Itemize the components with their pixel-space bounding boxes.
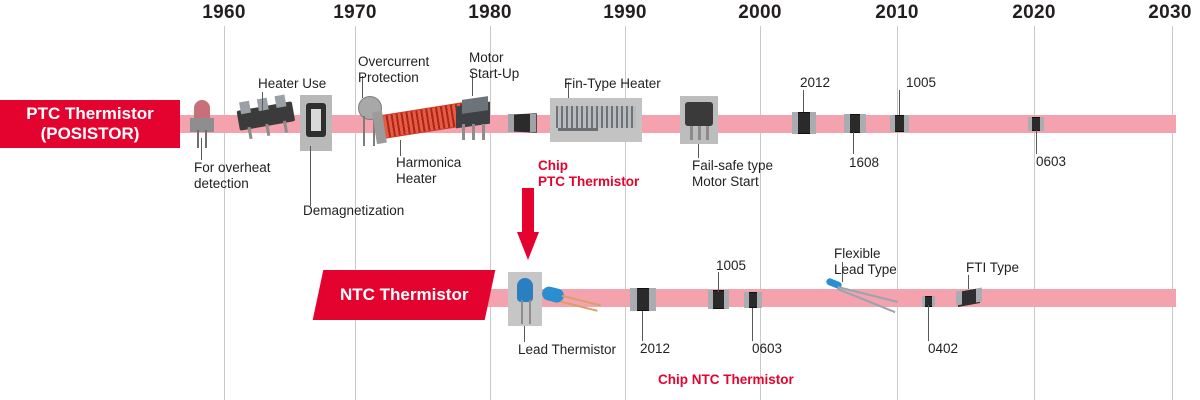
leader-ntc-0603 — [752, 308, 753, 341]
decade-label-2010: 2010 — [857, 2, 937, 24]
ptc-heater-module-icon — [235, 91, 297, 142]
gridline-1960 — [224, 26, 225, 400]
decade-label-2000: 2000 — [720, 2, 800, 24]
ntc-item-label-chip-size-0603: 0603 — [752, 341, 802, 357]
ptc-item-label-demagnetization: Demagnetization — [303, 203, 443, 219]
chip-component-icon-ntc-1005 — [708, 290, 729, 309]
flexible-lead-ntc-icon — [826, 278, 900, 320]
ptc-item-label-chip-size-0603: 0603 — [1036, 154, 1086, 170]
chip-component-icon-ntc-0603 — [744, 292, 762, 308]
ptc-item-label-chip-size-1608: 1608 — [849, 155, 899, 171]
leader-fti-type — [968, 275, 969, 289]
ntc-caption-chip-ntc-thermistor: Chip NTC Thermistor — [658, 372, 878, 388]
ptc-item-label-chip-size-1005: 1005 — [906, 75, 956, 91]
chip-component-icon-ptc-1608 — [844, 114, 866, 133]
leader-demag — [310, 146, 311, 206]
ptc-item-label-chip-size-2012: 2012 — [800, 75, 850, 91]
degaussing-posistor-icon — [300, 95, 332, 151]
ptc-item-label-overcurrent-protection: Overcurrent Protection — [358, 54, 458, 86]
ntc-item-label-chip-size-1005: 1005 — [716, 258, 766, 274]
ptc-category-label: PTC Thermistor (POSISTOR) — [0, 100, 180, 148]
chip-component-icon-ntc-2012 — [630, 288, 656, 311]
ntc-item-label-flexible-lead-type: Flexible Lead Type — [834, 246, 934, 278]
chip-component-icon-ptc-1005 — [890, 115, 909, 132]
ntc-item-label-fti-type: FTI Type — [966, 260, 1046, 276]
chip-component-icon-ptc-0603 — [1028, 117, 1044, 131]
leader-2012 — [803, 90, 804, 112]
leader-0603 — [1036, 130, 1037, 154]
gridline-2030 — [1172, 26, 1173, 400]
gridline-2020 — [1034, 26, 1035, 400]
fail-safe-motor-start-photo-icon — [680, 96, 718, 144]
leader-ntc-1005 — [718, 272, 719, 292]
ptc-disc-radial-leads-icon — [188, 100, 216, 148]
ntc-category-label-text: NTC Thermistor — [340, 285, 468, 305]
ptc-item-label-chip-ptc-thermistor: Chip PTC Thermistor — [538, 158, 668, 190]
leader-failsafe — [698, 144, 699, 158]
timeline-diagram: 1960 1970 1980 1990 2000 2010 2020 2030 … — [0, 0, 1200, 400]
chip-ptc-icon — [508, 112, 536, 136]
leader-heateruse — [262, 92, 263, 110]
fti-type-ntc-icon — [956, 286, 984, 312]
ntc-category-label: NTC Thermistor — [313, 270, 496, 320]
ptc-item-label-for-overheat-detection: For overheat detection — [194, 160, 289, 192]
ptc-item-label-heater-use: Heater Use — [258, 76, 368, 92]
gridline-2010 — [897, 26, 898, 400]
leader-harmonica — [400, 140, 401, 156]
decade-label-1970: 1970 — [315, 2, 395, 24]
ptc-item-label-harmonica-heater: Harmonica Heater — [396, 155, 486, 187]
ptc-item-label-fin-type-heater: Fin-Type Heater — [564, 76, 704, 92]
leader-ntc-0402 — [928, 305, 929, 341]
ntc-item-label-lead-thermistor: Lead Thermistor — [518, 342, 638, 358]
motor-start-posistor-icon — [452, 96, 498, 144]
decade-label-2030: 2030 — [1130, 2, 1200, 24]
decade-label-1980: 1980 — [450, 2, 530, 24]
ptc-item-label-motor-start-up: Motor Start-Up — [469, 50, 539, 82]
leader-lead-thermistor — [524, 326, 525, 342]
ntc-item-label-chip-size-2012: 2012 — [640, 341, 690, 357]
leader-1608 — [853, 132, 854, 154]
gridline-1980 — [490, 26, 491, 400]
leader-1005 — [899, 90, 900, 115]
lead-thermistor-blue-bead-icon — [508, 272, 542, 326]
decade-label-1990: 1990 — [585, 2, 665, 24]
leader-ntc-2012 — [642, 311, 643, 341]
ntc-item-label-chip-size-0402: 0402 — [928, 341, 978, 357]
chip-component-icon-ptc-2012 — [792, 112, 816, 134]
ptc-item-label-fail-safe-type-motor-start: Fail-safe type Motor Start — [692, 158, 802, 190]
decade-label-1960: 1960 — [184, 2, 264, 24]
chip-ptc-to-ntc-arrow-icon — [517, 188, 539, 260]
fin-type-heater-photo-icon — [550, 98, 642, 142]
decade-label-2020: 2020 — [994, 2, 1074, 24]
leader-overheat — [201, 138, 202, 160]
